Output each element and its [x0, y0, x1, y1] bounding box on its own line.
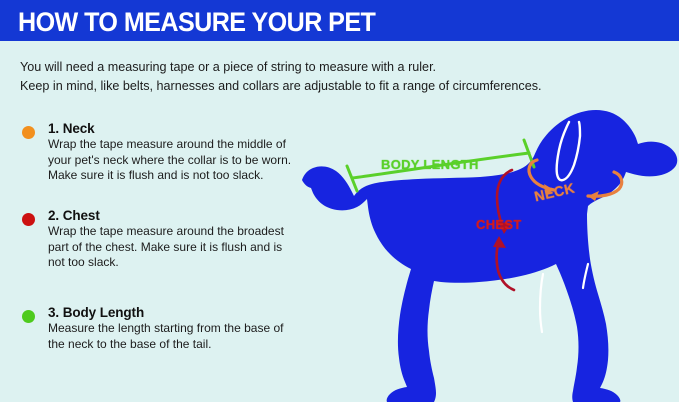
step-item-body-length: 3. Body Length Measure the length starti…: [22, 305, 302, 352]
label-body-length: BODY LENGTH: [381, 157, 479, 172]
intro-text: You will need a measuring tape or a piec…: [20, 58, 660, 96]
step-title-chest: 2. Chest: [48, 208, 302, 223]
page-title: HOW TO MEASURE YOUR PET: [18, 7, 375, 38]
intro-line-2: Keep in mind, like belts, harnesses and …: [20, 77, 660, 96]
intro-line-1: You will need a measuring tape or a piec…: [20, 58, 660, 77]
step-title-neck: 1. Neck: [48, 121, 302, 136]
front-leg-divider: [540, 274, 543, 332]
bullet-icon-neck: [22, 126, 35, 139]
step-body-body-length: Measure the length starting from the bas…: [48, 321, 302, 352]
dog-body-shape: [302, 110, 677, 402]
bullet-icon-chest: [22, 213, 35, 226]
step-item-neck: 1. Neck Wrap the tape measure around the…: [22, 121, 302, 184]
dog-measurement-diagram: BODY LENGTH NECK CHEST: [288, 104, 679, 402]
step-body-chest: Wrap the tape measure around the broades…: [48, 224, 302, 271]
infographic-page: HOW TO MEASURE YOUR PET You will need a …: [0, 0, 679, 402]
label-chest: CHEST: [476, 217, 522, 232]
step-title-body-length: 3. Body Length: [48, 305, 302, 320]
dog-silhouette-svg: [288, 104, 679, 402]
step-item-chest: 2. Chest Wrap the tape measure around th…: [22, 208, 302, 271]
step-body-neck: Wrap the tape measure around the middle …: [48, 137, 302, 184]
bullet-icon-body-length: [22, 310, 35, 323]
